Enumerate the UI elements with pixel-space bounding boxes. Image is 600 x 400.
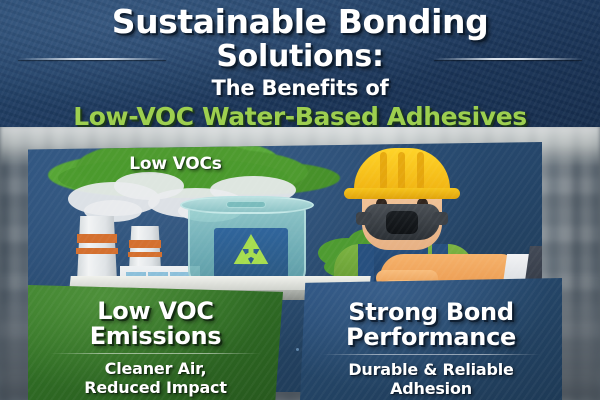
header-banner: Sustainable Bonding Solutions: The Benef… xyxy=(0,0,600,127)
panel-right-divider xyxy=(322,354,540,355)
bush-icon xyxy=(318,238,376,268)
smokestack-band xyxy=(76,248,118,254)
mask-strap xyxy=(432,212,448,225)
smokestack-band xyxy=(77,234,117,243)
panel-right-sub-line1: Durable & Reliable xyxy=(300,360,562,379)
bush-icon xyxy=(348,228,398,256)
bucket-handle xyxy=(226,201,266,208)
panel-right-title-line2: Performance xyxy=(300,325,562,350)
window-pane xyxy=(126,272,146,280)
window-pane xyxy=(170,282,190,290)
page-subtitle: The Benefits of xyxy=(0,76,600,101)
title-rule-right xyxy=(434,58,582,60)
worker-eye xyxy=(376,198,387,210)
page-title-line1: Sustainable Bonding xyxy=(0,4,600,40)
smoke-puff-icon xyxy=(178,200,242,222)
panel-left-sub-line2: Reduced Impact xyxy=(28,378,283,397)
factory-smokestacks-icon xyxy=(128,226,162,288)
smoke-puff-icon xyxy=(84,200,142,222)
smoke-puff-icon xyxy=(114,172,184,200)
gear-icon xyxy=(382,204,416,238)
smoke-puff-icon xyxy=(148,188,244,218)
respirator-mask-icon xyxy=(364,204,440,240)
worker-brow xyxy=(414,191,430,195)
low-vocs-label: Low VOCs xyxy=(88,154,263,174)
recycle-symbol-icon xyxy=(216,229,286,279)
worker-respirator-icon xyxy=(328,148,478,283)
page-title-line2-row: Solutions: xyxy=(0,40,600,74)
helmet-ridge xyxy=(380,152,387,190)
panel-right-sub-line2: Adhesion xyxy=(300,379,562,398)
page-title-line2: Solutions: xyxy=(216,39,383,74)
panel-right-title-line1: Strong Bond xyxy=(300,300,562,325)
mask-strap xyxy=(356,212,372,225)
mask-filter xyxy=(386,211,418,234)
speckle xyxy=(150,270,153,273)
panel-left-title-line2: Emissions xyxy=(28,324,283,349)
helmet-ridge xyxy=(417,152,424,190)
smokestack-band xyxy=(129,240,161,248)
helmet-ridge xyxy=(398,152,405,190)
panel-left-title-line1: Low VOC xyxy=(28,299,283,324)
bucket-rim xyxy=(180,196,314,214)
smoke-puff-icon xyxy=(210,176,296,204)
overall-strap xyxy=(358,244,374,288)
adhesive-bucket-icon xyxy=(188,204,306,288)
window-pane xyxy=(148,272,168,280)
infographic-poster: Sustainable Bonding Solutions: The Benef… xyxy=(0,0,600,400)
bush-icon xyxy=(324,254,396,280)
gear-icon xyxy=(344,226,390,272)
panel-strong-bond-performance[interactable]: Strong Bond Performance Durable & Reliab… xyxy=(300,278,562,400)
hard-hat-brim xyxy=(344,188,460,199)
window-pane xyxy=(170,272,190,280)
panel-left-divider xyxy=(50,353,261,354)
page-highlight-subtitle: Low-VOC Water-Based Adhesives xyxy=(0,103,600,127)
bucket-label xyxy=(214,228,288,280)
worker-eye xyxy=(417,198,428,210)
gear-icon xyxy=(328,258,356,286)
worker-face xyxy=(362,182,442,250)
worker-brow xyxy=(374,191,390,195)
speckle xyxy=(296,348,299,351)
hard-hat-icon xyxy=(354,148,450,194)
smokestack-band xyxy=(128,252,162,257)
smoke-puff-icon xyxy=(68,182,160,216)
title-rule-left xyxy=(18,58,166,60)
panel-low-voc-emissions[interactable]: Low VOC Emissions Cleaner Air, Reduced I… xyxy=(28,285,283,400)
panel-left-sub-line1: Cleaner Air, xyxy=(28,359,283,378)
speckle xyxy=(428,238,431,241)
